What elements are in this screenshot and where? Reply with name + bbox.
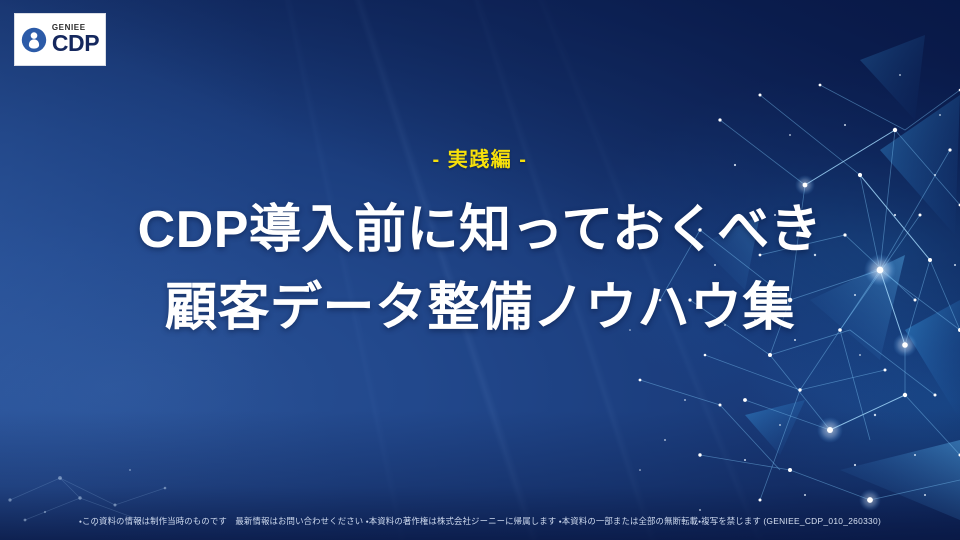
logo-wordmark: GENIEE CDP	[52, 24, 99, 54]
footer-notice-text: ・この資料の情報は制作当時のものです 最新情報はお問い合わせください ・本資料の…	[79, 516, 761, 526]
title-slide: GENIEE CDP - 実践編 - CDP導入前に知っておくべき 顧客データ整…	[0, 0, 960, 540]
geniee-cdp-logo[interactable]: GENIEE CDP	[14, 13, 106, 66]
eyebrow-label: - 実践編 -	[0, 150, 960, 170]
headline-block: - 実践編 - CDP導入前に知っておくべき 顧客データ整備ノウハウ集	[0, 150, 960, 334]
page-title-line-2: 顧客データ整備ノウハウ集	[0, 282, 960, 334]
document-id: (GENIEE_CDP_010_260330)	[763, 516, 881, 526]
page-title-line-1: CDP導入前に知っておくべき	[0, 204, 960, 256]
footer-legal-notice: ・この資料の情報は制作当時のものです 最新情報はお問い合わせください ・本資料の…	[0, 516, 960, 526]
logo-product-text: CDP	[52, 33, 99, 54]
person-circle-icon	[21, 27, 47, 53]
